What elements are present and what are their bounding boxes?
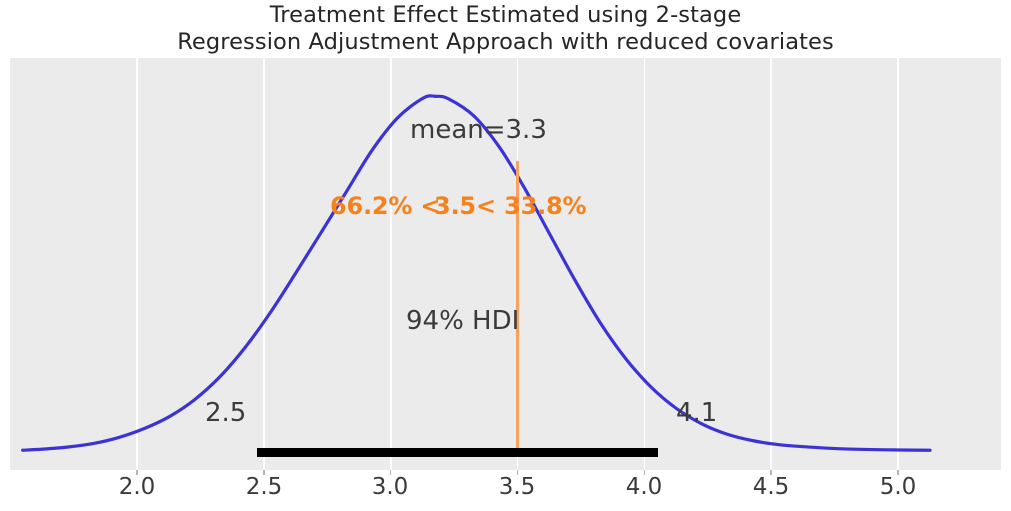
hdi-probability-label: 94% HDI <box>406 306 519 336</box>
x-tick-label-4: 4.0 <box>626 474 663 500</box>
chart-title: Treatment Effect Estimated using 2-stage… <box>0 2 1011 56</box>
hdi-low-label: 2.5 <box>205 398 246 428</box>
x-tick-label-3: 3.5 <box>499 474 536 500</box>
plot-panel: mean=3.3 66.2% < 3.5 < 33.8% 94% HDI 2.5… <box>10 58 1001 470</box>
percent-above-reference-label: < 33.8% <box>476 192 586 220</box>
mean-annotation: mean=3.3 <box>410 115 547 145</box>
x-tick-label-0: 2.0 <box>119 474 156 500</box>
hdi-interval-bar <box>257 448 658 457</box>
x-tick-label-1: 2.5 <box>246 474 283 500</box>
x-tick-label-6: 5.0 <box>880 474 917 500</box>
percent-below-reference-label: 66.2% < <box>330 192 440 220</box>
x-tick-label-5: 4.5 <box>753 474 790 500</box>
chart-title-line-1: Treatment Effect Estimated using 2-stage <box>0 2 1011 29</box>
posterior-plot-figure: Treatment Effect Estimated using 2-stage… <box>0 0 1011 511</box>
hdi-high-label: 4.1 <box>676 398 717 428</box>
chart-title-line-2: Regression Adjustment Approach with redu… <box>0 29 1011 56</box>
kde-path <box>23 96 930 450</box>
reference-value-label: 3.5 <box>434 192 476 220</box>
x-tick-label-2: 3.0 <box>372 474 409 500</box>
